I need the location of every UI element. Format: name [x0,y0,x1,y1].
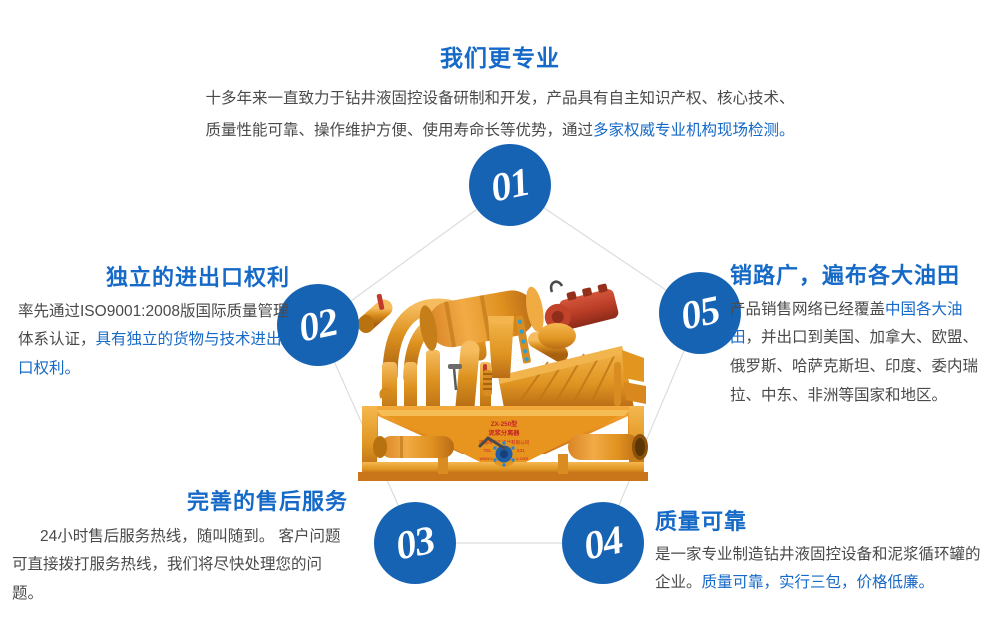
section-04-heading: 质量可靠 [655,508,991,536]
section-03-text-block: 完善的售后服务 24小时售后服务热线，随叫随到。 客户问题可直接拨打服务热线，我… [12,488,348,609]
section-01-body: 十多年来一直致力于钻井液固控设备研制和开发，产品具有自主知识产权、核心技术、 质… [150,83,850,147]
node-number-label: 02 [295,301,340,348]
section-05-plain-a: 产品销售网络已经覆盖 [730,301,885,318]
section-01-text-block: 我们更专业 十多年来一直致力于钻井液固控设备研制和开发，产品具有自主知识产权、核… [150,44,850,146]
mud-separator-machine-image: ZX-250型 泥浆分离器 济南市飞迈机械有限公司 TEL：1593672103… [352,258,652,488]
section-02-text-block: 独立的进出口权利 率先通过ISO9001:2008版国际质量管理体系认证，具有独… [18,264,290,384]
section-01-line1: 十多年来一直致力于钻井液固控设备研制和开发，产品具有自主知识产权、核心技术、 [205,90,794,107]
section-01-heading: 我们更专业 [150,44,850,73]
section-04-text-block: 质量可靠 是一家专业制造钻井液固控设备和泥浆循环罐的企业。质量可靠，实行三包，价… [655,508,991,598]
node-circle-01[interactable]: 01 [469,144,551,226]
node-number-label: 05 [677,289,722,336]
node-circle-03[interactable]: 03 [374,502,456,584]
svg-text:泥浆分离器: 泥浆分离器 [489,429,521,437]
svg-text:ZX-250型: ZX-250型 [491,420,518,428]
section-02-body: 率先通过ISO9001:2008版国际质量管理体系认证，具有独立的货物与技术进出… [18,298,290,384]
section-03-body: 24小时售后服务热线，随叫随到。 客户问题可直接拨打服务热线，我们将尽快处理您的… [12,523,348,609]
node-circle-05[interactable]: 05 [659,272,741,354]
section-03-heading: 完善的售后服务 [12,488,348,516]
section-04-highlight: 质量可靠，实行三包，价格低廉。 [702,574,935,591]
node-number-label: 01 [487,161,532,208]
section-04-body: 是一家专业制造钻井液固控设备和泥浆循环罐的企业。质量可靠，实行三包，价格低廉。 [655,541,991,598]
section-05-heading: 销路广，遍布各大油田 [730,262,992,290]
section-05-body: 产品销售网络已经覆盖中国各大油田，并出口到美国、加拿大、欧盟、俄罗斯、哈萨克斯坦… [730,296,992,411]
node-number-label: 04 [580,519,625,566]
section-05-plain-b: ，并出口到美国、加拿大、欧盟、俄罗斯、哈萨克斯坦、印度、委内瑞拉、中东、非洲等国… [730,329,978,403]
node-circle-04[interactable]: 04 [562,502,644,584]
section-01-line2: 质量性能可靠、操作维护方便、使用寿命长等优势，通过 [205,122,593,139]
section-01-line2-highlight: 多家权威专业机构现场检测。 [593,122,795,139]
infographic-stage: ZX-250型 泥浆分离器 济南市飞迈机械有限公司 TEL：1593672103… [0,0,1000,642]
section-05-text-block: 销路广，遍布各大油田 产品销售网络已经覆盖中国各大油田，并出口到美国、加拿大、欧… [730,262,992,410]
node-number-label: 03 [392,519,437,566]
section-02-heading: 独立的进出口权利 [18,264,290,292]
